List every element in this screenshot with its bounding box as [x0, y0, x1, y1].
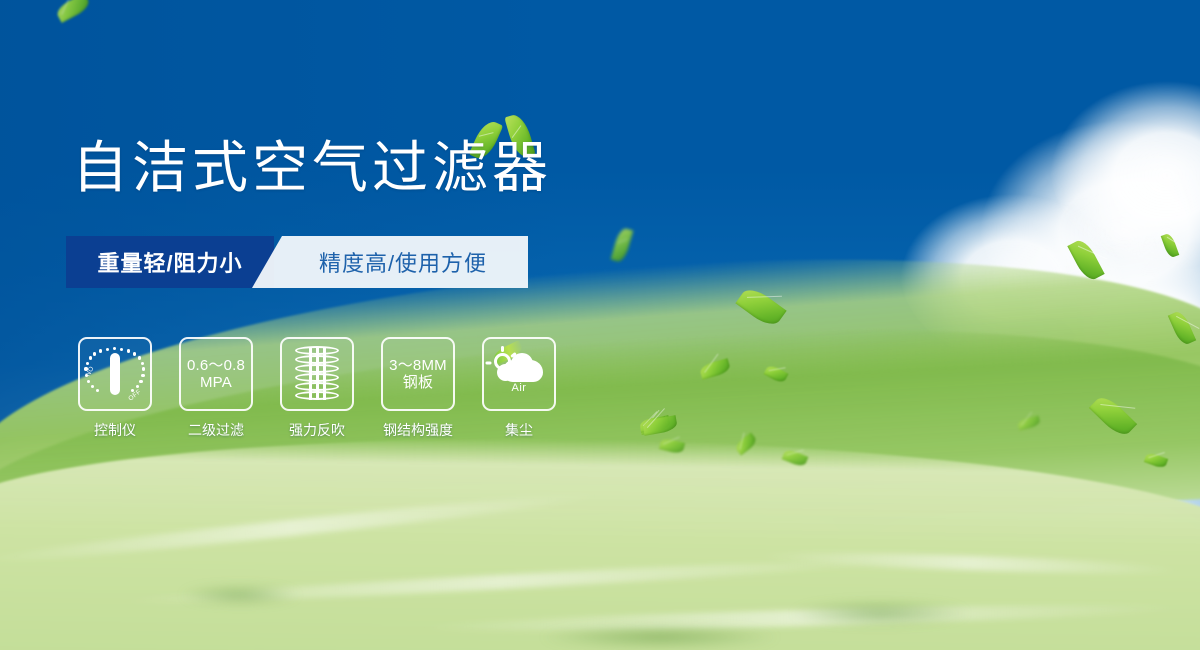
pressure-text-icon: 0.6～0.8 MPA	[187, 357, 245, 392]
feature-icon-box: 0.6～0.8 MPA	[179, 337, 253, 411]
feature-icon-box	[280, 337, 354, 411]
feature-label-controller: 控制仪	[94, 420, 136, 440]
grass-shadow-patch	[540, 625, 780, 649]
grass-shadow-patch	[180, 585, 300, 605]
steel-thickness: 3～8MM	[389, 357, 447, 374]
feature-icon-box: 3～8MM 钢板	[381, 337, 455, 411]
cloud-body	[503, 360, 543, 382]
filter-cartridge-icon	[295, 346, 339, 402]
pressure-unit: MPA	[187, 374, 245, 391]
feature-label-dust-collection: 集尘	[505, 420, 533, 440]
steel-text-icon: 3～8MM 钢板	[389, 357, 447, 392]
subtitle-left-panel: 重量轻/阻力小	[66, 236, 274, 288]
feature-item-strong-blowback[interactable]: 强力反吹	[280, 337, 354, 440]
feature-label-strong-blowback: 强力反吹	[289, 420, 345, 440]
feature-icon-box: Air	[482, 337, 556, 411]
gauge-needle	[110, 353, 120, 395]
feature-icon-box: NO OFF	[78, 337, 152, 411]
feature-item-two-stage-filter[interactable]: 0.6～0.8 MPA 二级过滤	[179, 337, 253, 440]
air-label: Air	[491, 382, 547, 394]
pressure-range: 0.6～0.8	[187, 357, 245, 374]
gauge-label-off: OFF	[127, 388, 142, 402]
gauge-dial-icon: NO OFF	[86, 345, 144, 403]
page-title: 自洁式空气过滤器	[72, 140, 552, 196]
promo-banner: 自洁式空气过滤器 重量轻/阻力小 精度高/使用方便	[0, 0, 1200, 650]
grass-shadow-patch	[790, 600, 970, 626]
feature-list: NO OFF 控制仪 0.6～0.8 MPA 二级过滤	[78, 337, 556, 440]
cloud-sun-air-icon: Air	[491, 350, 547, 398]
subtitle-right-panel: 精度高/使用方便	[252, 236, 528, 288]
feature-item-dust-collection[interactable]: Air 集尘	[482, 337, 556, 440]
feature-item-steel-strength[interactable]: 3～8MM 钢板 钢结构强度	[381, 337, 455, 440]
subtitle-right-text: 精度高/使用方便	[319, 246, 487, 278]
feature-label-two-stage-filter: 二级过滤	[188, 420, 244, 440]
feature-label-steel-strength: 钢结构强度	[383, 420, 453, 440]
steel-material: 钢板	[389, 374, 447, 391]
subtitle-left-text: 重量轻/阻力小	[97, 246, 242, 278]
feature-item-controller[interactable]: NO OFF 控制仪	[78, 337, 152, 440]
